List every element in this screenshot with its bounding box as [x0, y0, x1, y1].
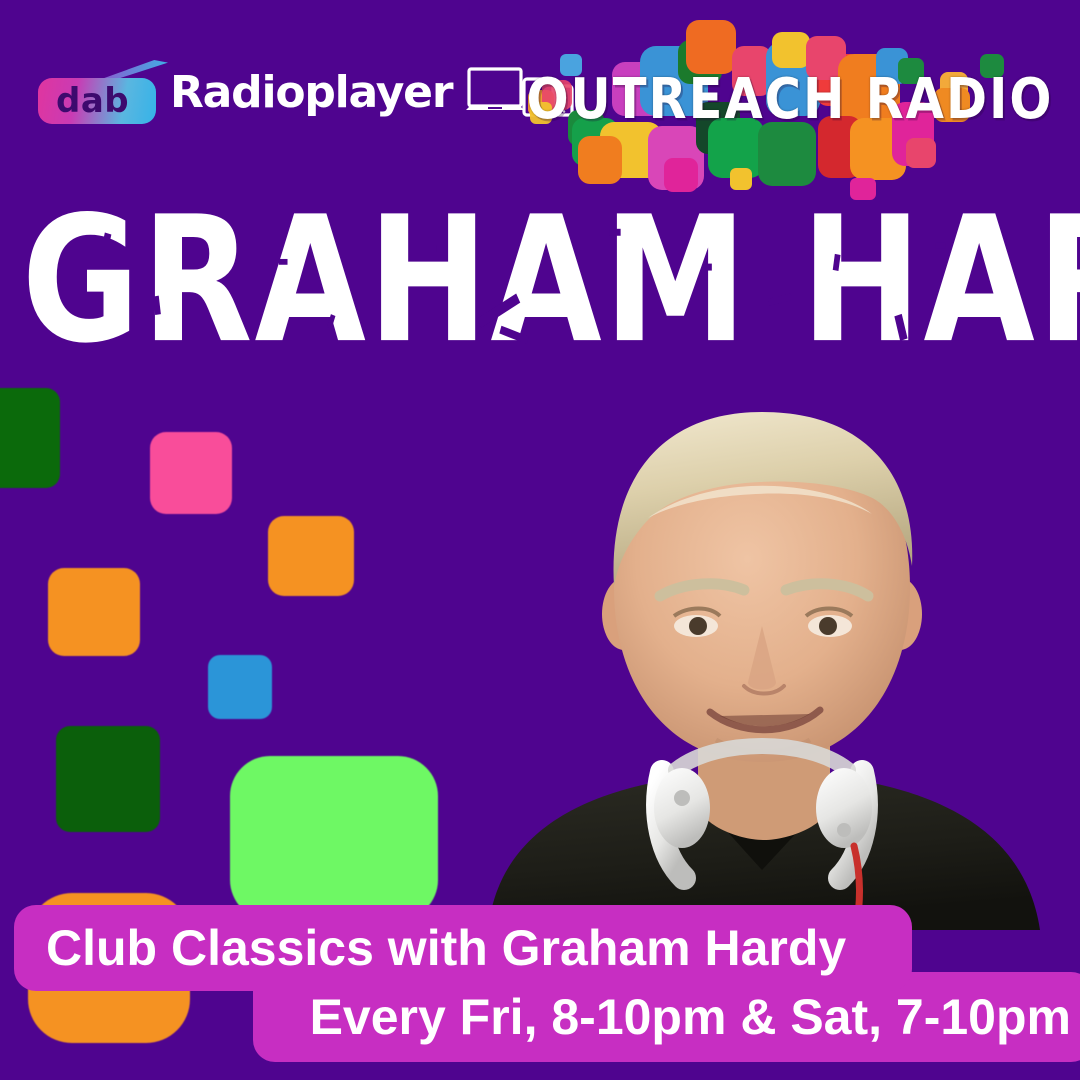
square-dark-green-lower	[56, 726, 160, 832]
presenter-photo	[448, 400, 1080, 930]
mosaic-tile	[578, 136, 622, 184]
mosaic-tile	[906, 138, 936, 168]
mosaic-tile	[758, 122, 816, 186]
outreach-radio-logo: OUTREACH RADIO	[520, 18, 1060, 194]
outreach-radio-wordmark: OUTREACH RADIO	[523, 67, 1058, 132]
show-title-banner: Club Classics with Graham Hardy	[14, 905, 912, 991]
square-orange-mid-left	[48, 568, 140, 656]
square-dark-green-top-left	[0, 388, 60, 488]
dab-label: dab	[56, 83, 129, 119]
laptop-icon	[469, 69, 521, 106]
show-title-text: Club Classics with Graham Hardy	[46, 919, 846, 977]
radioplayer-label: Radioplayer	[170, 71, 452, 115]
square-pink	[150, 432, 232, 514]
poster-canvas: dab Radioplayer OUTREACH RADIO GRAHAM HA…	[0, 0, 1080, 1080]
dab-radioplayer-lockup: dab Radioplayer	[38, 58, 574, 128]
square-blue	[208, 655, 272, 719]
square-orange-mid-right	[268, 516, 354, 596]
dab-logo: dab	[38, 62, 156, 124]
main-title-text: GRAHAM HARDY	[22, 180, 1080, 382]
schedule-text: Every Fri, 8-10pm & Sat, 7-10pm	[310, 988, 1071, 1046]
square-green-large	[230, 756, 438, 920]
page-title: GRAHAM HARDY	[22, 194, 1059, 368]
mosaic-tile	[772, 32, 810, 68]
